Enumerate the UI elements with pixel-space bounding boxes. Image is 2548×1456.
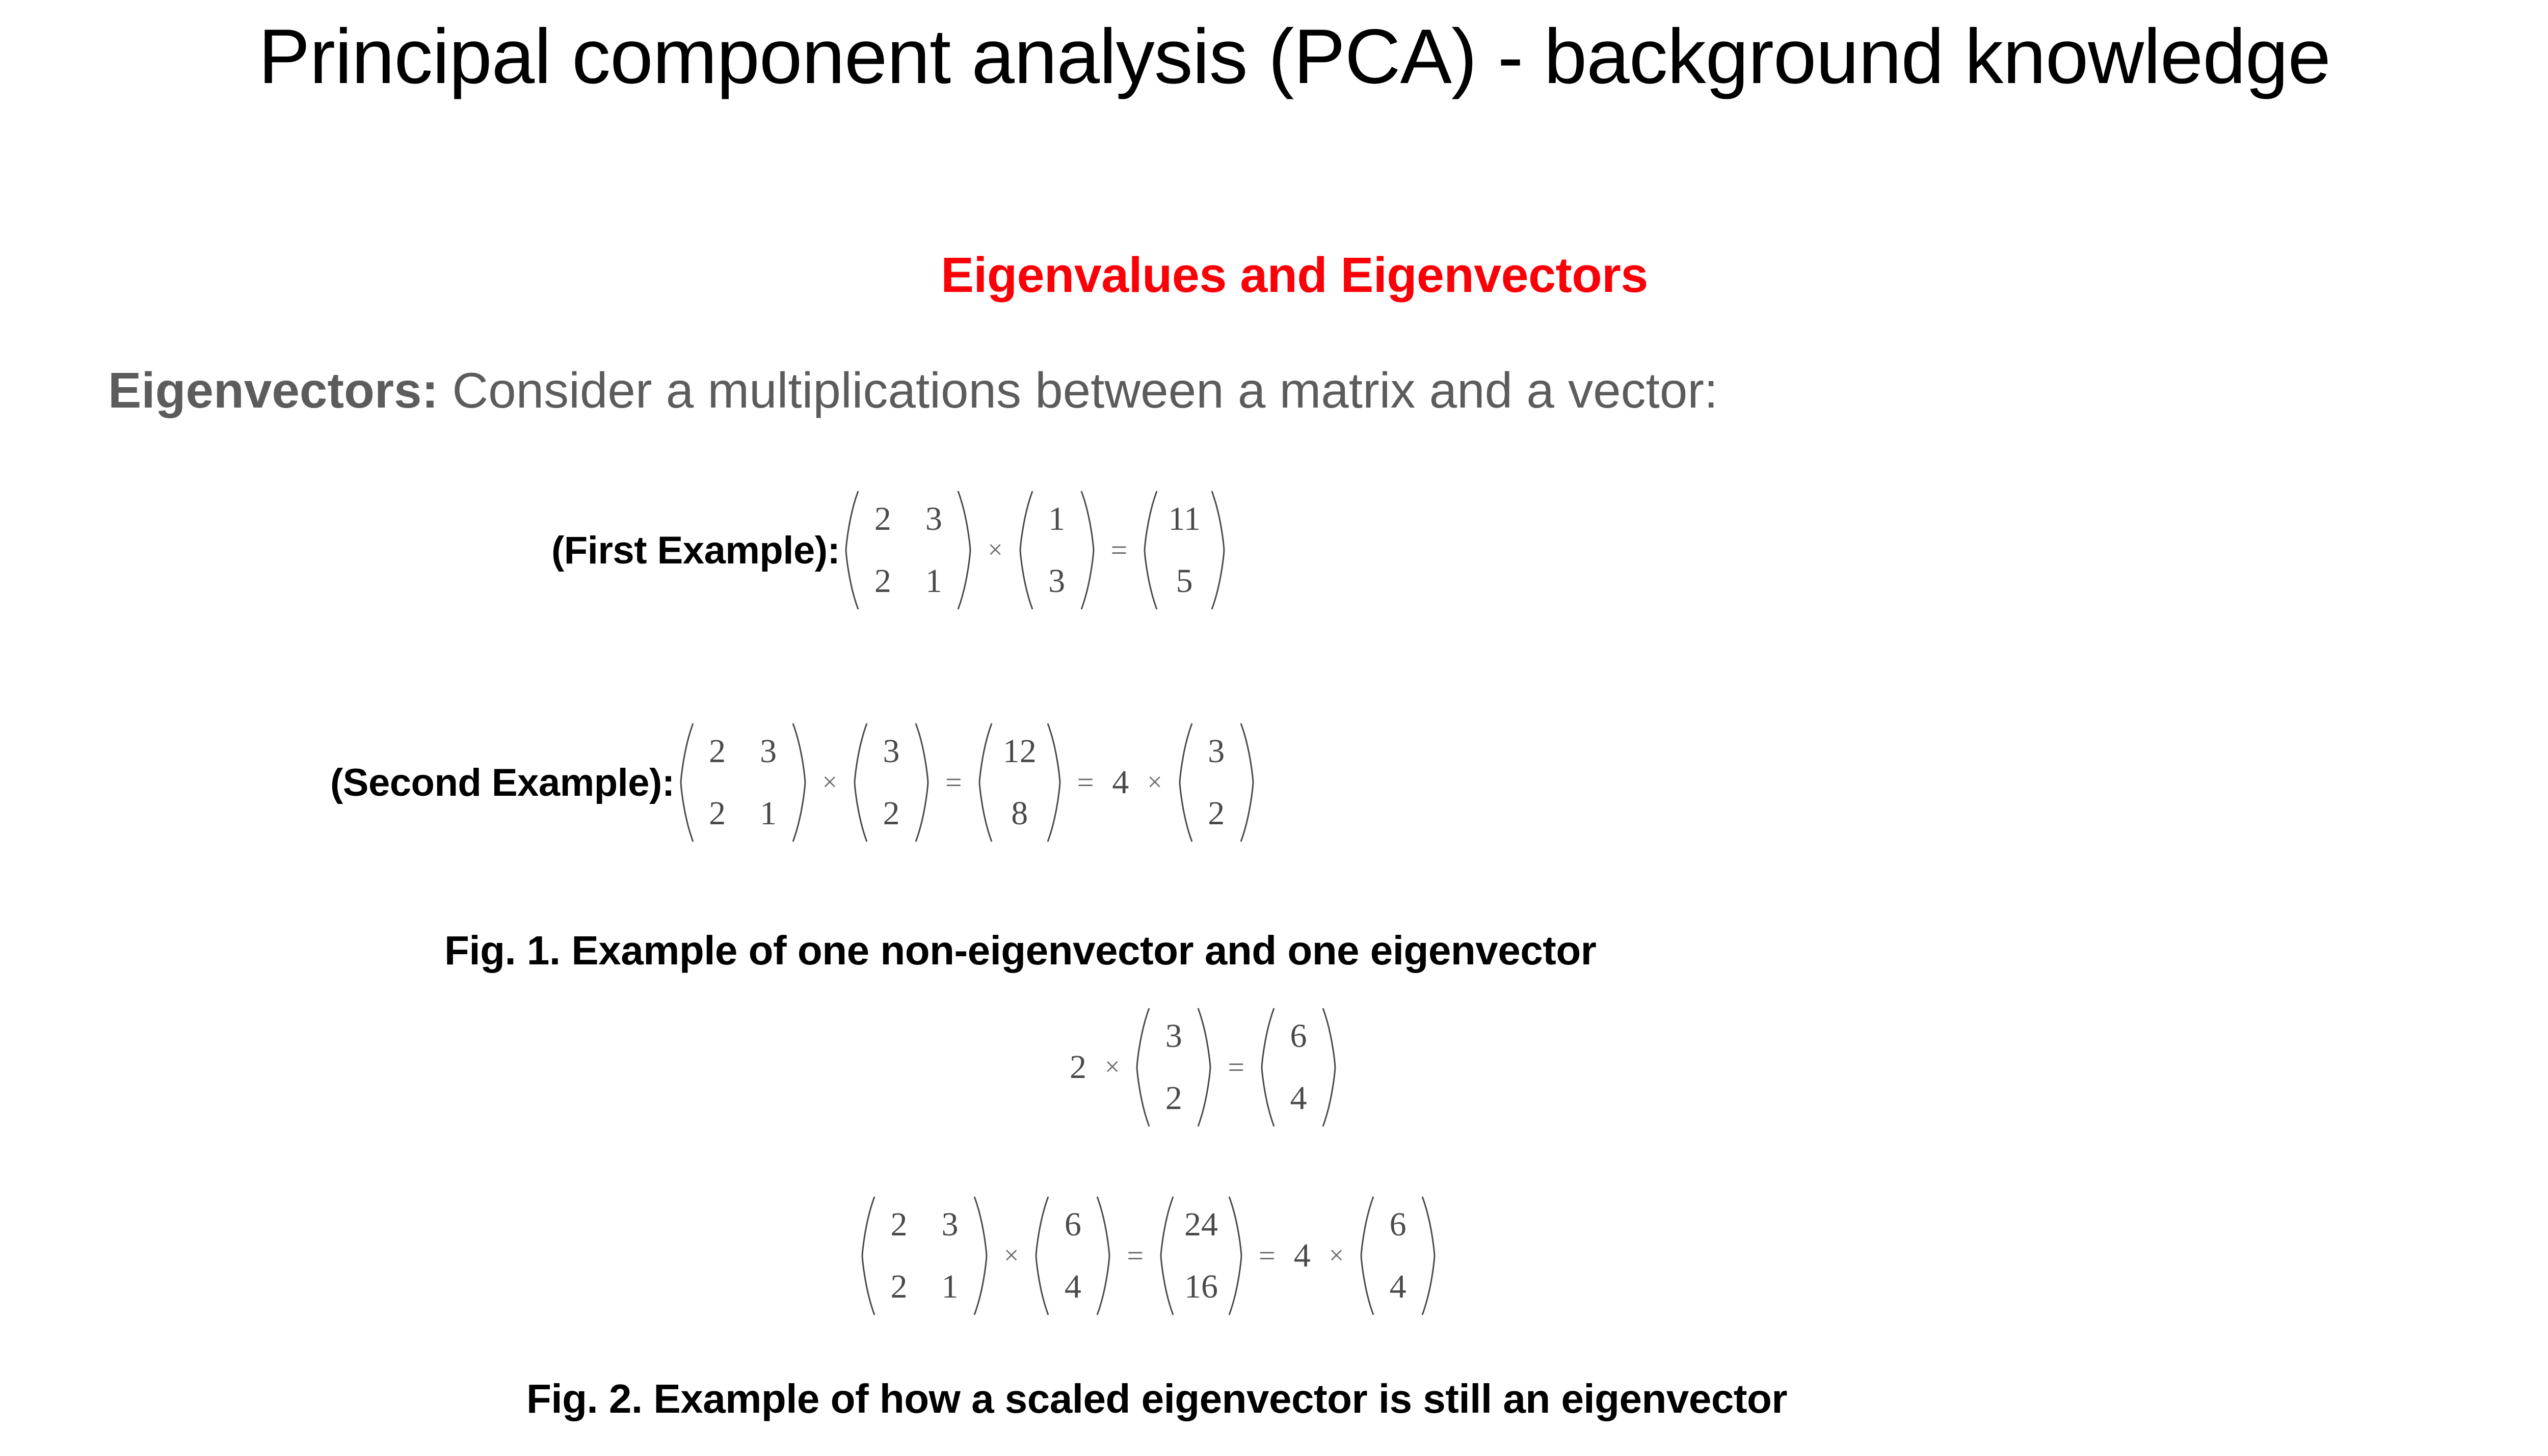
page-subtitle: Eigenvalues and Eigenvectors	[0, 247, 2548, 304]
equation-scaled-vector-expression: 2 × 3 2 = 6 4	[1063, 1006, 1341, 1128]
vector-cell: 2	[1160, 1082, 1187, 1115]
vector-result: 24 16	[1158, 1195, 1244, 1317]
multiplication-symbol: ×	[976, 537, 1014, 563]
right-paren-icon	[1321, 1006, 1338, 1128]
vector-cell: 1	[1044, 502, 1070, 536]
equation-second-example-label: (Second Example):	[330, 761, 675, 805]
vector-cell: 12	[1003, 735, 1037, 768]
right-paren-icon	[1046, 721, 1063, 844]
vector-cell: 4	[1385, 1270, 1411, 1304]
matrix-2x2: 2 3 2 1	[859, 1195, 990, 1317]
vector-cell: 8	[1006, 797, 1033, 830]
equals-symbol: =	[1216, 1053, 1256, 1082]
matrix-cell: 2	[886, 1270, 912, 1304]
vector-cell: 3	[1160, 1019, 1187, 1053]
left-paren-icon	[843, 489, 860, 611]
matrix-cell: 3	[755, 735, 782, 768]
matrix-cell: 1	[937, 1270, 963, 1304]
right-paren-icon	[956, 489, 973, 611]
matrix-cell: 2	[886, 1208, 912, 1242]
vector-column: 3 2	[1134, 1006, 1213, 1128]
vector-cell: 6	[1285, 1019, 1312, 1053]
vector-cell: 16	[1184, 1270, 1218, 1304]
equation-scaled-eigenvector-expression: 2 3 2 1 × 6 4	[856, 1195, 1441, 1317]
vector-result: 12 8	[976, 721, 1063, 844]
right-paren-icon	[972, 1195, 990, 1317]
multiplication-symbol-2: ×	[1318, 1243, 1355, 1269]
equals-symbol: =	[1116, 1241, 1155, 1271]
matrix-cell: 2	[869, 502, 896, 536]
matrix-cell: 2	[869, 564, 896, 598]
multiplication-symbol: ×	[1094, 1054, 1131, 1081]
matrix-2x2: 2 3 2 1	[843, 489, 973, 611]
scalar-value: 4	[1287, 1239, 1318, 1273]
page-title: Principal component analysis (PCA) - bac…	[0, 11, 2548, 102]
equation-scaled-eigenvector: 2 3 2 1 × 6 4	[856, 1195, 1441, 1317]
equation-scaled-vector: 2 × 3 2 = 6 4	[1063, 1006, 1341, 1128]
vector-cell: 24	[1184, 1208, 1218, 1242]
scalar-value: 2	[1063, 1050, 1094, 1084]
left-paren-icon	[1033, 1195, 1050, 1317]
vector-cell: 5	[1171, 564, 1198, 598]
vector-cell: 6	[1059, 1208, 1086, 1242]
equation-second-example: (Second Example): 2 3 2 1 ×	[330, 721, 1259, 844]
right-paren-icon	[914, 721, 931, 844]
matrix-cell: 2	[704, 735, 731, 768]
vector-cell: 4	[1059, 1270, 1086, 1304]
figure-2-caption: Fig. 2. Example of how a scaled eigenvec…	[526, 1376, 1787, 1422]
equation-second-example-expression: 2 3 2 1 × 3 2	[675, 721, 1259, 844]
matrix-cell: 1	[755, 797, 782, 830]
body-text-rest: Consider a multiplications between a mat…	[438, 362, 1718, 418]
left-paren-icon	[852, 721, 869, 844]
vector-cell: 11	[1168, 502, 1201, 536]
vector-cell: 4	[1285, 1082, 1312, 1115]
multiplication-symbol: ×	[811, 769, 848, 796]
vector-result: 6 4	[1259, 1006, 1338, 1128]
body-text-lead: Eigenvectors:	[108, 362, 438, 418]
right-paren-icon	[1079, 489, 1097, 611]
left-paren-icon	[976, 721, 994, 844]
vector-eigenvector: 6 4	[1358, 1195, 1438, 1317]
vector-result: 11 5	[1142, 489, 1227, 611]
left-paren-icon	[1142, 489, 1159, 611]
right-paren-icon	[1420, 1195, 1438, 1317]
matrix-cell: 1	[920, 564, 947, 598]
scalar-value: 4	[1105, 766, 1136, 799]
equation-first-example-label: (First Example):	[551, 528, 840, 573]
right-paren-icon	[1227, 1195, 1244, 1317]
equation-first-example-expression: 2 3 2 1 × 1 3	[840, 489, 1230, 611]
left-paren-icon	[1158, 1195, 1175, 1317]
vector-column: 6 4	[1033, 1195, 1112, 1317]
right-paren-icon	[791, 721, 808, 844]
figure-1-caption: Fig. 1. Example of one non-eigenvector a…	[444, 927, 1596, 974]
vector-cell: 3	[1203, 735, 1230, 768]
equals-symbol-2: =	[1066, 768, 1105, 797]
matrix-cell: 3	[920, 502, 947, 536]
vector-column: 1 3	[1017, 489, 1097, 611]
equals-symbol: =	[1100, 535, 1139, 565]
matrix-cell: 2	[704, 797, 731, 830]
vector-cell: 3	[878, 735, 905, 768]
vector-column: 3 2	[852, 721, 931, 844]
left-paren-icon	[678, 721, 695, 844]
vector-cell: 3	[1044, 564, 1070, 598]
left-paren-icon	[859, 1195, 877, 1317]
matrix-2x2: 2 3 2 1	[678, 721, 808, 844]
equals-symbol: =	[934, 768, 973, 797]
right-paren-icon	[1196, 1006, 1213, 1128]
left-paren-icon	[1134, 1006, 1151, 1128]
vector-cell: 6	[1385, 1208, 1411, 1242]
equation-first-example: (First Example): 2 3 2 1 ×	[551, 489, 1230, 611]
right-paren-icon	[1239, 721, 1256, 844]
matrix-cell: 3	[937, 1208, 963, 1242]
left-paren-icon	[1358, 1195, 1375, 1317]
left-paren-icon	[1259, 1006, 1276, 1128]
vector-eigenvector: 3 2	[1177, 721, 1256, 844]
vector-cell: 2	[1203, 797, 1230, 830]
multiplication-symbol: ×	[993, 1243, 1030, 1269]
right-paren-icon	[1095, 1195, 1112, 1317]
left-paren-icon	[1017, 489, 1034, 611]
left-paren-icon	[1177, 721, 1194, 844]
multiplication-symbol-2: ×	[1136, 769, 1173, 796]
body-text: Eigenvectors: Consider a multiplications…	[108, 362, 1718, 419]
right-paren-icon	[1210, 489, 1227, 611]
vector-cell: 2	[878, 797, 905, 830]
equals-symbol-2: =	[1248, 1241, 1287, 1271]
